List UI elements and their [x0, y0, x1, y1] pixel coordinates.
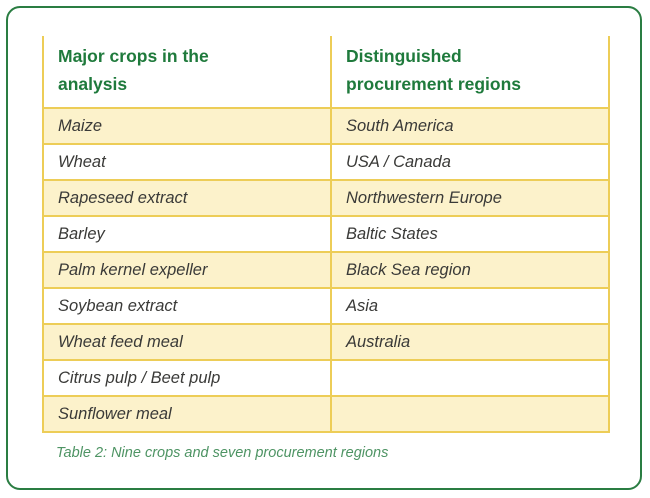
table-header: Major crops in the analysis Distinguishe… [43, 36, 609, 108]
cell-region: Black Sea region [331, 252, 609, 288]
cell-crop: Citrus pulp / Beet pulp [43, 360, 331, 396]
cell-crop: Wheat [43, 144, 331, 180]
column-header-crops-line1: Major crops in the [58, 43, 330, 70]
cell-region: Baltic States [331, 216, 609, 252]
cell-region [331, 360, 609, 396]
column-header-regions-line2: procurement regions [346, 71, 608, 98]
table-row: Barley Baltic States [43, 216, 609, 252]
cell-crop: Maize [43, 108, 331, 144]
column-header-regions-line1: Distinguished [346, 43, 608, 70]
table-row: Wheat feed meal Australia [43, 324, 609, 360]
column-header-crops: Major crops in the analysis [43, 36, 331, 108]
column-header-regions: Distinguished procurement regions [331, 36, 609, 108]
table-row: Rapeseed extract Northwestern Europe [43, 180, 609, 216]
table-header-row: Major crops in the analysis Distinguishe… [43, 36, 609, 108]
table-row: Sunflower meal [43, 396, 609, 432]
table-row: Citrus pulp / Beet pulp [43, 360, 609, 396]
cell-crop: Sunflower meal [43, 396, 331, 432]
table-row: Wheat USA / Canada [43, 144, 609, 180]
cell-crop: Wheat feed meal [43, 324, 331, 360]
cell-region: Northwestern Europe [331, 180, 609, 216]
column-header-crops-line2: analysis [58, 71, 330, 98]
table-row: Soybean extract Asia [43, 288, 609, 324]
cell-crop: Soybean extract [43, 288, 331, 324]
cell-crop: Palm kernel expeller [43, 252, 331, 288]
cell-region [331, 396, 609, 432]
cell-crop: Rapeseed extract [43, 180, 331, 216]
cell-region: USA / Canada [331, 144, 609, 180]
table-caption: Table 2: Nine crops and seven procuremen… [56, 445, 388, 461]
cell-region: Asia [331, 288, 609, 324]
table-body: Maize South America Wheat USA / Canada R… [43, 108, 609, 432]
table-row: Palm kernel expeller Black Sea region [43, 252, 609, 288]
crops-and-regions-table: Major crops in the analysis Distinguishe… [42, 36, 610, 433]
cell-crop: Barley [43, 216, 331, 252]
cell-region: South America [331, 108, 609, 144]
table-panel: Major crops in the analysis Distinguishe… [6, 6, 642, 490]
cell-region: Australia [331, 324, 609, 360]
table-row: Maize South America [43, 108, 609, 144]
